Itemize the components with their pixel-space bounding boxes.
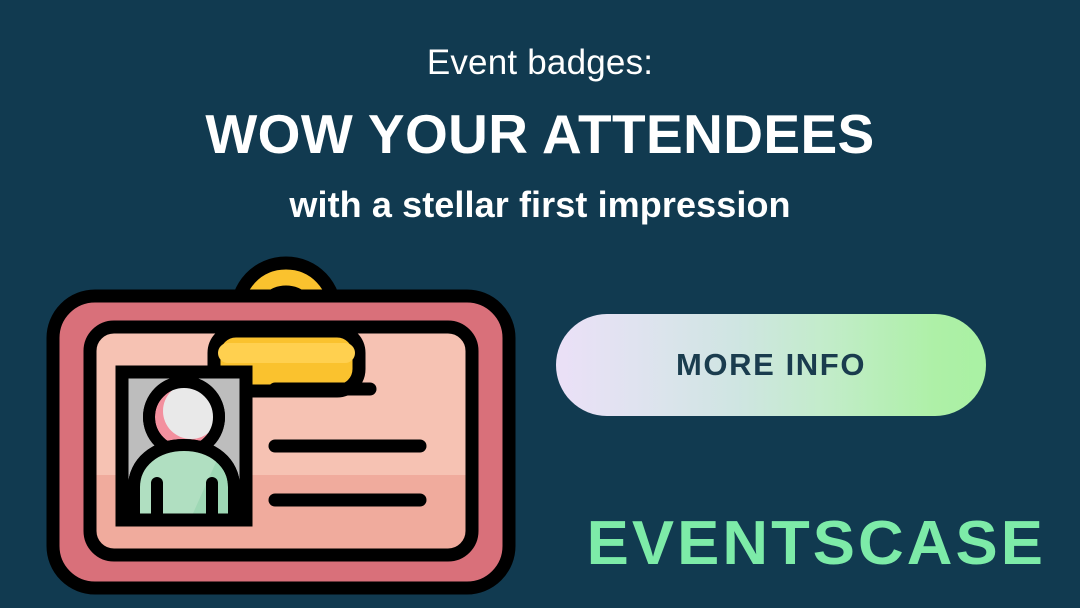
subtitle-text: with a stellar first impression: [0, 166, 1080, 228]
id-badge-illustration: [46, 239, 516, 595]
copy-block: Event badges: WOW YOUR ATTENDEES with a …: [0, 0, 1080, 228]
page-title: WOW YOUR ATTENDEES: [0, 85, 1080, 166]
person-avatar-icon: [122, 372, 246, 529]
eyebrow-text: Event badges:: [0, 0, 1080, 85]
more-info-button[interactable]: MORE INFO: [556, 314, 986, 416]
id-badge-icon: [46, 239, 516, 595]
badge-clip-highlight: [218, 343, 355, 363]
eventscase-logo: EVENTSCASE: [526, 513, 1046, 575]
promo-banner: Event badges: WOW YOUR ATTENDEES with a …: [0, 0, 1080, 608]
